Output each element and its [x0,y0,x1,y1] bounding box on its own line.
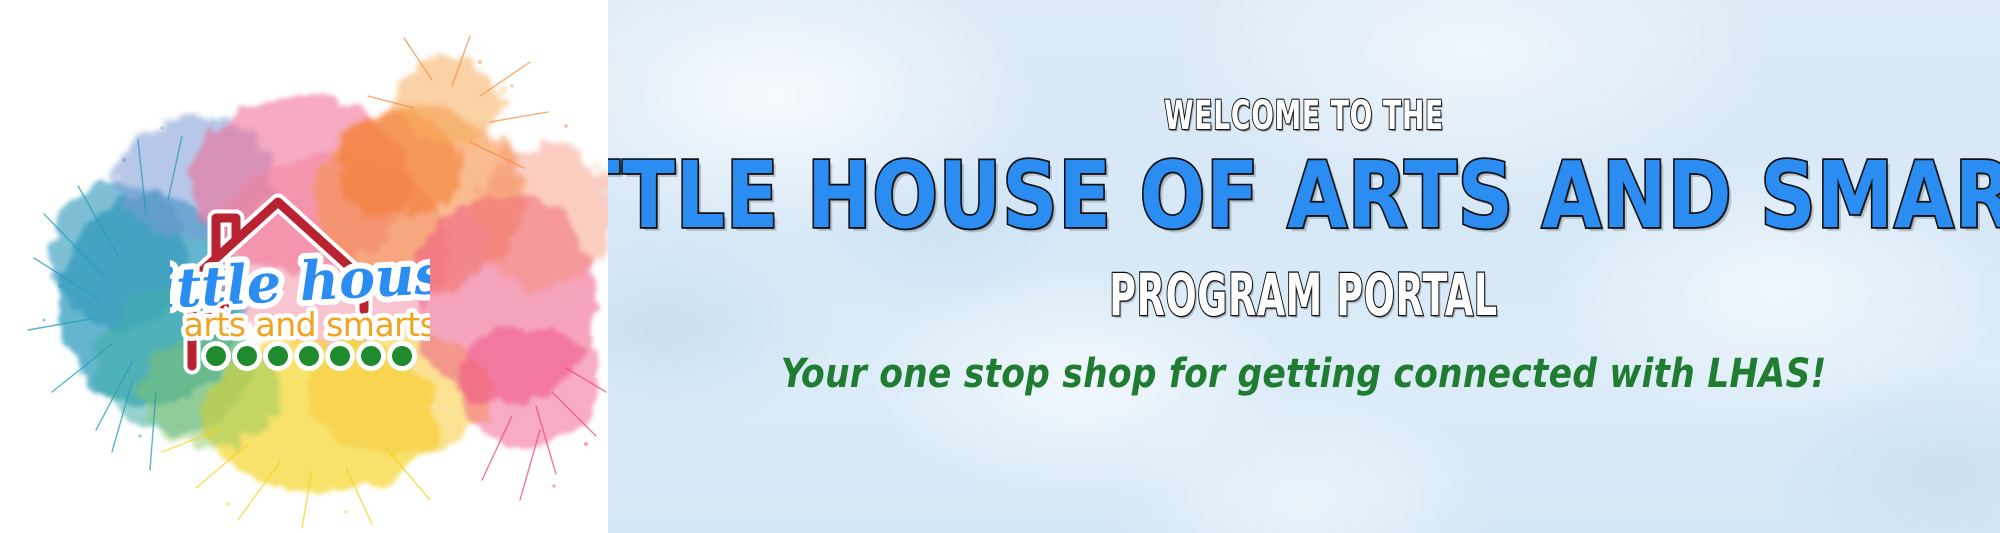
logo-subline-text: arts and smarts [184,305,430,344]
site-banner: little house little house of of arts and… [0,0,2000,533]
logo-panel: little house little house of of arts and… [0,0,608,533]
page-title: LITTLE HOUSE OF ARTS AND SMARTS [608,150,2000,242]
welcome-eyebrow: WELCOME TO THE [1164,96,1444,136]
logo-mark: little house little house of of arts and… [170,160,430,375]
headline-stack: WELCOME TO THE LITTLE HOUSE OF ARTS AND … [608,0,2000,533]
header-panel: WELCOME TO THE LITTLE HOUSE OF ARTS AND … [608,0,2000,533]
logo-dot-row [201,341,417,371]
logo-stage: little house little house of of arts and… [0,0,608,533]
tagline: Your one stop shop for getting connected… [781,354,1827,394]
page-subtitle: PROGRAM PORTAL [1110,266,1499,324]
